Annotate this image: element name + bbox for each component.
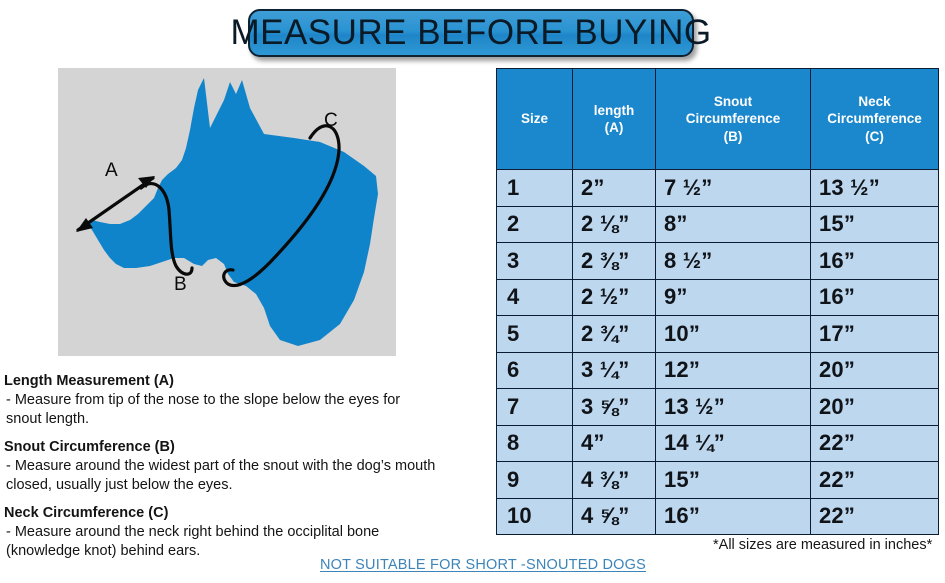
- length-cell: 2 ⅛”: [573, 206, 656, 243]
- size-chart-table: Size length (A) Snout Circumference (B) …: [496, 68, 939, 535]
- snout-cell: 15”: [656, 462, 811, 499]
- length-cell: 2 ½”: [573, 279, 656, 316]
- instruction-block-length: Length Measurement (A) - Measure from ti…: [4, 372, 490, 429]
- dog-head-svg: A B C: [58, 68, 396, 356]
- size-cell: 6: [497, 352, 573, 389]
- table-body: 12”7 ½”13 ½”22 ⅛”8”15”32 ⅜”8 ½”16”42 ½”9…: [497, 170, 939, 535]
- table-header: Size length (A) Snout Circumference (B) …: [497, 69, 939, 170]
- length-cell: 4”: [573, 425, 656, 462]
- table-row: 94 ⅜”15”22”: [497, 462, 939, 499]
- neck-cell: 22”: [811, 498, 939, 535]
- table-header-row: Size length (A) Snout Circumference (B) …: [497, 69, 939, 170]
- size-cell: 9: [497, 462, 573, 499]
- marker-c-label: C: [324, 110, 338, 131]
- measurement-instructions: Length Measurement (A) - Measure from ti…: [4, 372, 490, 569]
- table-row: 32 ⅜”8 ½”16”: [497, 243, 939, 280]
- length-cell: 2 ¾”: [573, 316, 656, 353]
- snout-cell: 13 ½”: [656, 389, 811, 426]
- instruction-block-neck: Neck Circumference (C) - Measure around …: [4, 504, 490, 561]
- neck-cell: 13 ½”: [811, 170, 939, 207]
- length-cell: 2 ⅜”: [573, 243, 656, 280]
- instruction-block-snout: Snout Circumference (B) - Measure around…: [4, 438, 490, 495]
- dog-measurement-diagram: A B C: [58, 68, 396, 356]
- snout-cell: 7 ½”: [656, 170, 811, 207]
- marker-b-label: B: [174, 274, 187, 295]
- page-title: MEASURE BEFORE BUYING: [230, 13, 711, 53]
- snout-cell: 14 ¼”: [656, 425, 811, 462]
- instruction-body: - Measure around the widest part of the …: [4, 457, 490, 495]
- snout-cell: 16”: [656, 498, 811, 535]
- table-row: 52 ¾”10”17”: [497, 316, 939, 353]
- snout-cell: 9”: [656, 279, 811, 316]
- size-cell: 4: [497, 279, 573, 316]
- instruction-body: - Measure around the neck right behind t…: [4, 523, 490, 561]
- table-row: 84”14 ¼”22”: [497, 425, 939, 462]
- size-cell: 7: [497, 389, 573, 426]
- column-header-length: length (A): [573, 69, 656, 170]
- snout-cell: 8”: [656, 206, 811, 243]
- size-cell: 2: [497, 206, 573, 243]
- snout-cell: 10”: [656, 316, 811, 353]
- size-cell: 5: [497, 316, 573, 353]
- size-cell: 3: [497, 243, 573, 280]
- instruction-body: - Measure from tip of the nose to the sl…: [4, 391, 490, 429]
- neck-cell: 20”: [811, 352, 939, 389]
- length-cell: 2”: [573, 170, 656, 207]
- page-title-banner: MEASURE BEFORE BUYING: [248, 9, 694, 57]
- instruction-heading: Length Measurement (A): [4, 372, 490, 390]
- size-cell: 1: [497, 170, 573, 207]
- snout-cell: 8 ½”: [656, 243, 811, 280]
- neck-cell: 20”: [811, 389, 939, 426]
- neck-cell: 16”: [811, 243, 939, 280]
- table-row: 63 ¼”12”20”: [497, 352, 939, 389]
- length-cell: 3 ⅝”: [573, 389, 656, 426]
- table-row: 12”7 ½”13 ½”: [497, 170, 939, 207]
- length-cell: 4 ⅜”: [573, 462, 656, 499]
- neck-cell: 22”: [811, 462, 939, 499]
- instruction-heading: Neck Circumference (C): [4, 504, 490, 522]
- neck-cell: 17”: [811, 316, 939, 353]
- size-cell: 8: [497, 425, 573, 462]
- neck-cell: 22”: [811, 425, 939, 462]
- table-row: 22 ⅛”8”15”: [497, 206, 939, 243]
- column-header-neck: Neck Circumference (C): [811, 69, 939, 170]
- length-cell: 4 ⅝”: [573, 498, 656, 535]
- table-row: 42 ½”9”16”: [497, 279, 939, 316]
- size-cell: 10: [497, 498, 573, 535]
- not-suitable-notice: NOT SUITABLE FOR SHORT -SNOUTED DOGS: [320, 557, 646, 573]
- units-footnote: *All sizes are measured in inches*: [713, 537, 932, 553]
- table-row: 73 ⅝”13 ½”20”: [497, 389, 939, 426]
- neck-cell: 16”: [811, 279, 939, 316]
- instruction-heading: Snout Circumference (B): [4, 438, 490, 456]
- neck-cell: 15”: [811, 206, 939, 243]
- length-cell: 3 ¼”: [573, 352, 656, 389]
- column-header-size: Size: [497, 69, 573, 170]
- snout-cell: 12”: [656, 352, 811, 389]
- column-header-snout: Snout Circumference (B): [656, 69, 811, 170]
- marker-a-label: A: [105, 160, 118, 181]
- table-row: 104 ⅝”16”22”: [497, 498, 939, 535]
